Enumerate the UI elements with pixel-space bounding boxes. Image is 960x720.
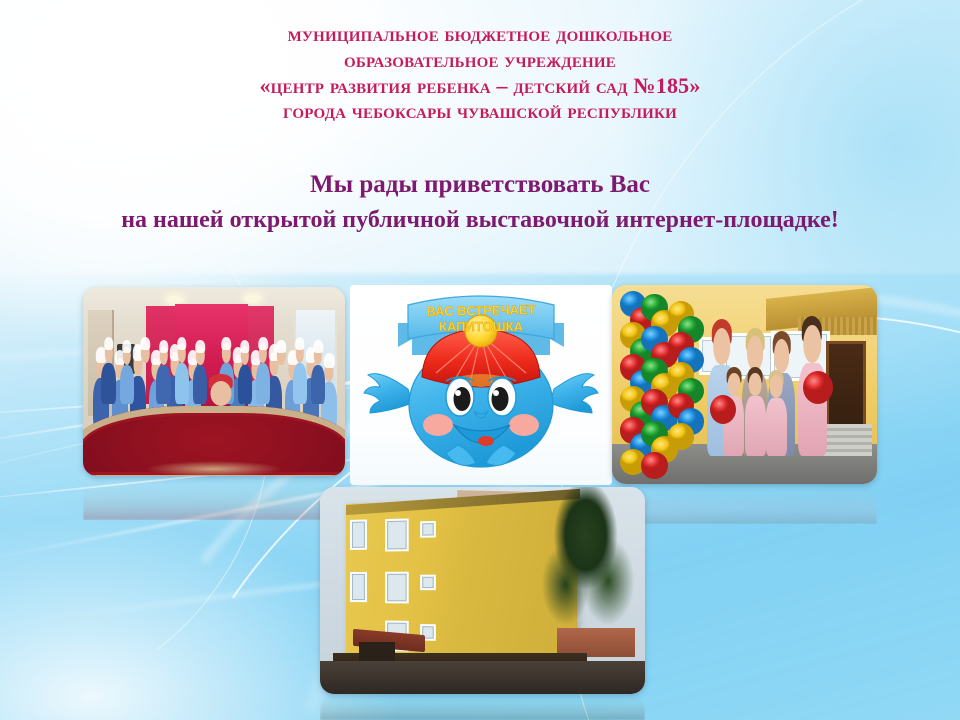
welcome-message: Мы рады приветствовать Вас на нашей откр… [0,168,960,239]
mascot-arm-right [550,374,598,413]
balloon-column-mid [641,291,668,466]
presentation-slide: Муниципальное бюджетное дошкольное образ… [0,0,960,720]
organisation-title-line-1: Муниципальное бюджетное дошкольное [0,22,960,48]
building-ground [320,661,645,694]
organisation-title: Муниципальное бюджетное дошкольное образ… [0,22,960,124]
balloon-held-right [803,371,833,404]
welcome-line-2: на нашей открытой публичной выставочной … [0,202,960,239]
mascot-cheek-right [509,414,539,436]
photo-outdoor-group [612,285,877,484]
mascot-kapitoshka-illustration: ВАС ВСТРЕЧАЕТ КАПИТОШКА [350,285,612,485]
photo-building [320,487,645,694]
photo-mascot-logo: ВАС ВСТРЕЧАЕТ КАПИТОШКА [350,285,612,485]
room-carpet [83,406,345,476]
person-child-2 [745,396,766,456]
photo-children-group [83,287,345,476]
organisation-title-line-2: образовательное учреждение [0,48,960,74]
organisation-title-line-3: «Центр развития ребенка – детский сад №1… [0,73,960,99]
tree [528,487,639,644]
organisation-title-line-4: города Чебоксары Чувашской Республики [0,99,960,125]
person-child-3 [766,398,787,456]
welcome-line-1: Мы рады приветствовать Вас [0,168,960,202]
mascot-banner-line-2: КАПИТОШКА [439,319,524,334]
photo-children-scene [83,287,345,476]
mascot-cheek-left [423,414,453,436]
mascot-arm-left [364,374,412,413]
balloon-column-right [668,301,695,440]
slide-heading: Муниципальное бюджетное дошкольное образ… [0,22,960,124]
mascot-banner-line-1: ВАС ВСТРЕЧАЕТ [426,302,535,319]
